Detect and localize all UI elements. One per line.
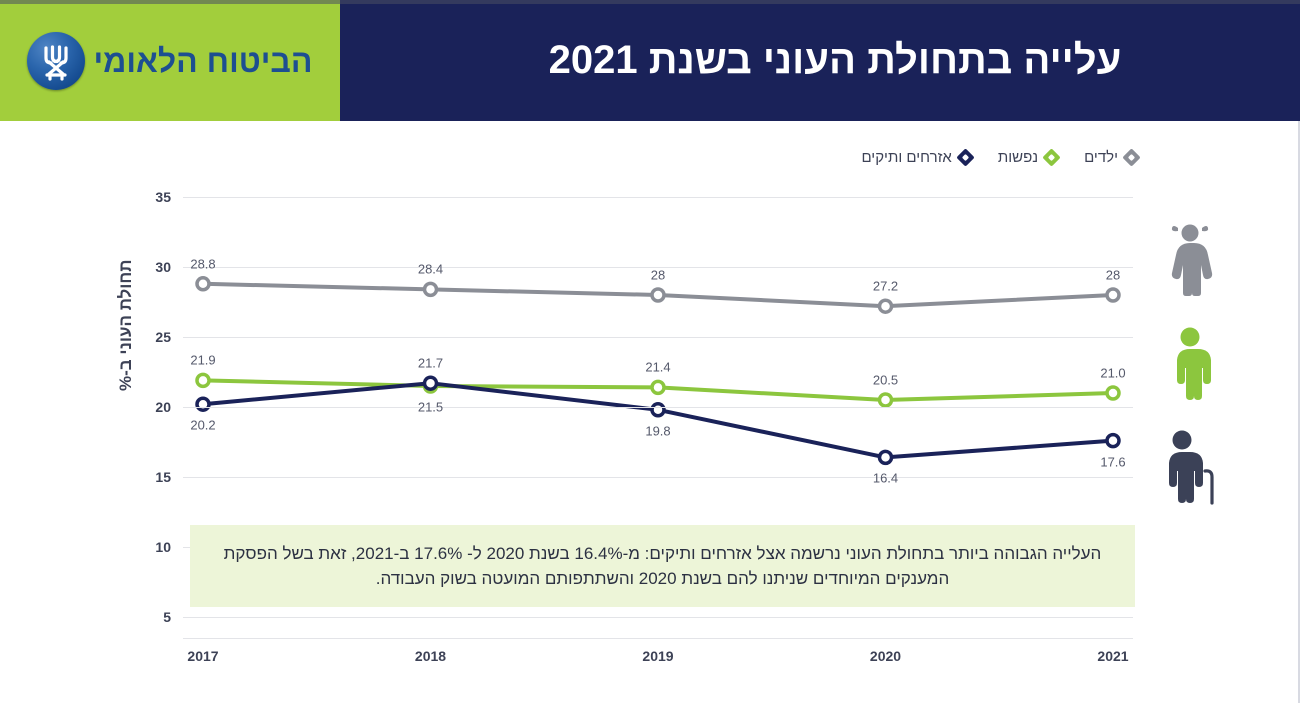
legend-label: ילדים [1084,149,1118,166]
data-point-label: 27.2 [873,279,898,294]
logo-band: הביטוח הלאומי [0,0,340,121]
page-title: עלייה בתחולת העוני בשנת 2021 [519,38,1122,83]
y-axis-tick: 30 [131,259,171,275]
legend-item[interactable]: ילדים [1084,149,1138,166]
data-point-marker[interactable] [880,394,892,406]
data-point-marker[interactable] [880,451,892,463]
annotation-box: העלייה הגבוהה ביותר בתחולת העוני נרשמה א… [190,525,1135,607]
data-point-label: 21.7 [418,356,443,371]
x-axis-tick: 2017 [187,648,218,664]
data-point-label: 19.8 [645,423,670,438]
data-point-label: 20.2 [190,418,215,433]
data-point-label: 21.4 [645,360,670,375]
y-axis-tick: 25 [131,329,171,345]
chart-sheet: ילדיםנפשותאזרחים ותיקים תחולת העוני ב-% … [0,121,1300,703]
x-axis-tick: 2021 [1097,648,1128,664]
title-band: עלייה בתחולת העוני בשנת 2021 [340,0,1300,121]
x-axis-tick: 2018 [415,648,446,664]
data-point-marker[interactable] [425,283,437,295]
menorah-emblem-icon [27,32,85,90]
data-point-label: 21.5 [418,400,443,415]
y-axis-tick: 35 [131,189,171,205]
y-axis-tick: 5 [131,609,171,625]
data-point-marker[interactable] [1107,387,1119,399]
data-point-marker[interactable] [197,278,209,290]
gridline [183,337,1133,338]
legend-label: אזרחים ותיקים [861,149,951,166]
diamond-marker [1042,148,1060,166]
data-point-label: 17.6 [1100,454,1125,469]
gridline [183,407,1133,408]
y-axis-tick: 10 [131,539,171,555]
diamond-marker [1122,148,1140,166]
data-point-marker[interactable] [652,404,664,416]
child-girl-pictogram-icon [1162,221,1218,297]
chart-legend: ילדיםנפשותאזרחים ותיקים [861,149,1138,166]
data-point-marker[interactable] [652,289,664,301]
data-point-label: 16.4 [873,471,898,486]
data-point-label: 21.9 [190,353,215,368]
data-point-label: 28 [651,268,665,283]
header-top-edge [0,0,1300,4]
y-axis-label: תחולת העוני ב-% [116,259,136,391]
data-point-marker[interactable] [652,381,664,393]
diamond-marker [956,148,974,166]
x-axis-tick: 2019 [642,648,673,664]
data-point-label: 20.5 [873,373,898,388]
data-point-marker[interactable] [1107,435,1119,447]
gridline [183,617,1133,618]
data-point-marker[interactable] [425,377,437,389]
adult-person-pictogram-icon [1162,326,1218,402]
data-point-label: 21.0 [1100,366,1125,381]
data-point-marker[interactable] [197,374,209,386]
gridline [183,477,1133,478]
annotation-text: העלייה הגבוהה ביותר בתחולת העוני נרשמה א… [218,541,1107,592]
senior-person-with-cane-pictogram-icon [1156,429,1218,507]
x-axis-tick: 2020 [870,648,901,664]
data-point-marker[interactable] [197,398,209,410]
data-point-label: 28 [1106,268,1120,283]
institute-logo: הביטוח הלאומי [27,32,312,90]
gridline [183,197,1133,198]
legend-label: נפשות [998,149,1038,166]
page-header: הביטוח הלאומי [0,0,1300,121]
data-point-marker[interactable] [1107,289,1119,301]
x-axis-line [183,638,1133,639]
legend-item[interactable]: אזרחים ותיקים [861,149,971,166]
data-point-label: 28.8 [190,256,215,271]
legend-item[interactable]: נפשות [998,149,1058,166]
data-point-marker[interactable] [880,300,892,312]
data-point-label: 28.4 [418,262,443,277]
logo-text: הביטוח הלאומי [93,45,312,77]
y-axis-tick: 20 [131,399,171,415]
y-axis-tick: 15 [131,469,171,485]
